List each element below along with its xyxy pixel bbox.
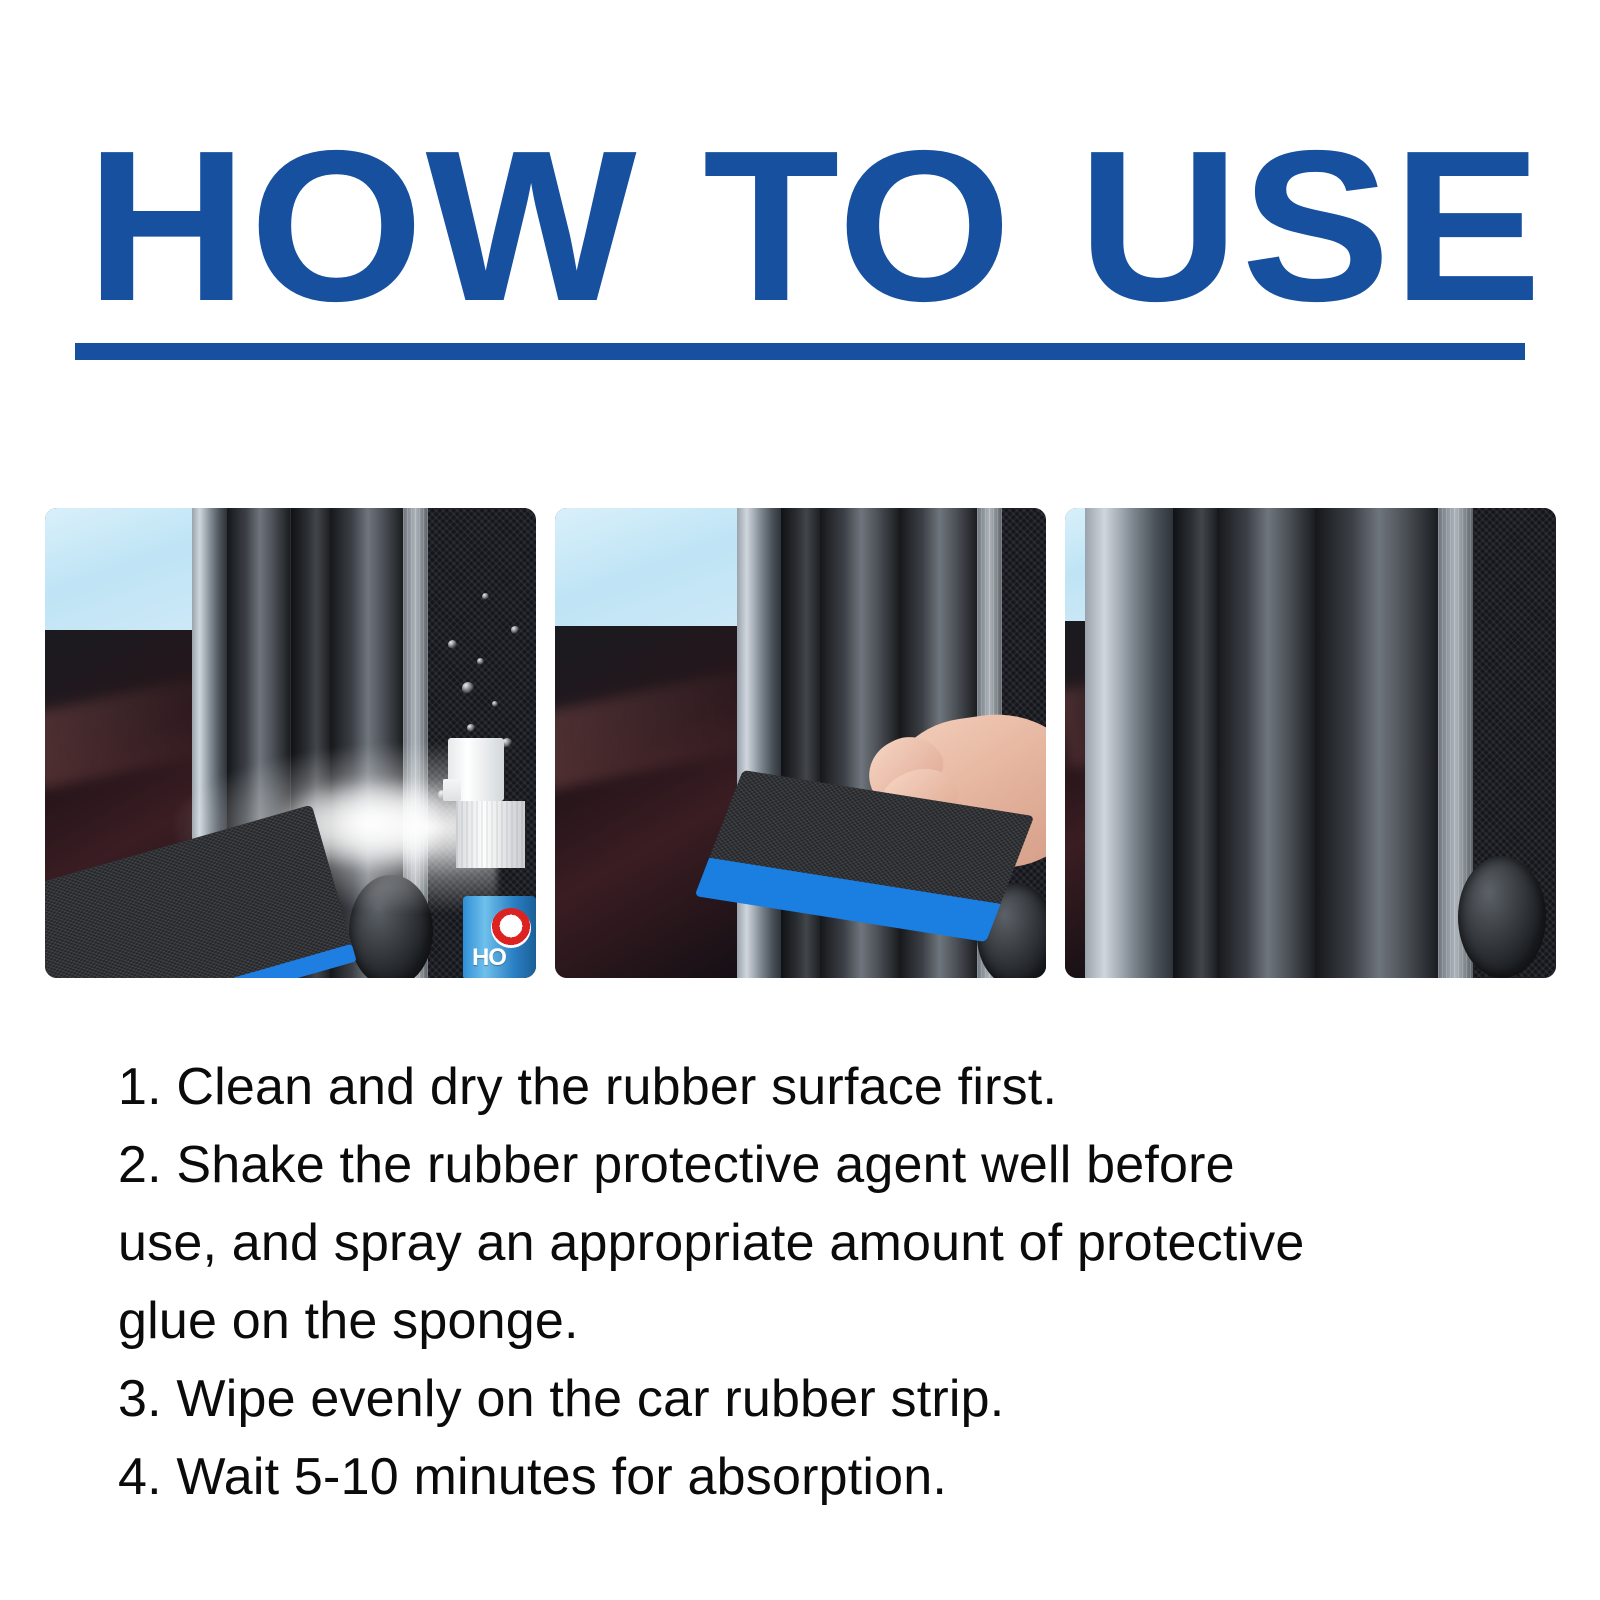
bottle-logo-icon xyxy=(491,908,531,948)
car-window-glass xyxy=(555,626,742,979)
bottle-nozzle xyxy=(443,779,462,801)
step-1-photo[interactable]: HO xyxy=(45,508,536,978)
rubber-seal-channel xyxy=(1173,508,1217,978)
rubber-seal-main xyxy=(1315,508,1438,978)
door-latch-hardware xyxy=(1458,856,1546,978)
how-to-use-page: HOW TO USE xyxy=(0,0,1600,1600)
instructions-block: 1. Clean and dry the rubber surface firs… xyxy=(118,1048,1518,1516)
bottle-trigger-collar xyxy=(456,801,525,868)
door-chrome-trim xyxy=(1085,508,1173,978)
instruction-line: 1. Clean and dry the rubber surface firs… xyxy=(118,1048,1518,1126)
step-2-photo[interactable] xyxy=(555,508,1046,978)
instruction-line: 2. Shake the rubber protective agent wel… xyxy=(118,1126,1518,1204)
rubber-seal-outer xyxy=(1217,508,1315,978)
instruction-line: glue on the sponge. xyxy=(118,1282,1518,1360)
page-title: HOW TO USE xyxy=(86,118,1544,333)
bottle-body-label: HO xyxy=(463,896,536,977)
title-underline-rule xyxy=(75,343,1525,360)
instruction-line: 3. Wipe evenly on the car rubber strip. xyxy=(118,1360,1518,1438)
spray-bottle: HO xyxy=(443,738,536,978)
step-3-photo[interactable] xyxy=(1065,508,1556,978)
instruction-line: 4. Wait 5-10 minutes for absorption. xyxy=(118,1438,1518,1516)
steps-photo-gallery: HO xyxy=(45,508,1556,978)
sky-background xyxy=(45,508,192,649)
instruction-line: use, and spray an appropriate amount of … xyxy=(118,1204,1518,1282)
bottle-label-text: HO xyxy=(472,944,506,972)
